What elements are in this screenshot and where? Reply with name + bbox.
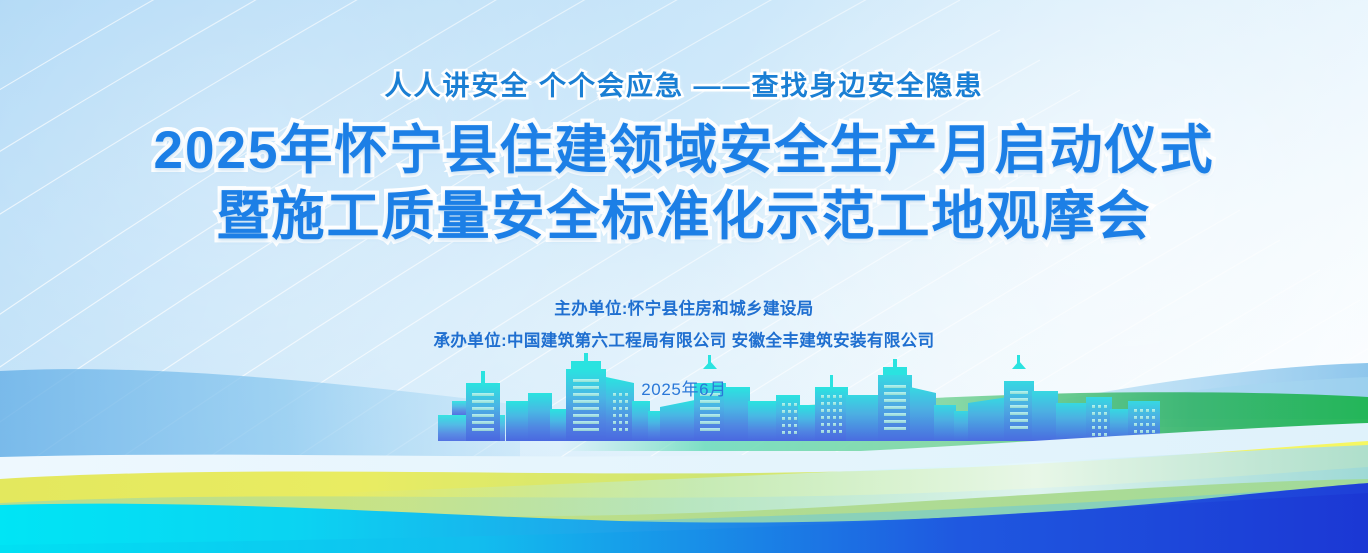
banner-title-line-2: 暨施工质量安全标准化示范工地观摩会 bbox=[0, 183, 1368, 251]
banner-slogan: 人人讲安全 个个会应急 ——查找身边安全隐患 bbox=[0, 64, 1368, 103]
host-organization: 主办单位:怀宁县住房和城乡建设局 bbox=[0, 293, 1368, 325]
event-banner: 人人讲安全 个个会应急 ——查找身边安全隐患 2025年怀宁县住建领域安全生产月… bbox=[0, 0, 1368, 553]
organizer-block: 主办单位:怀宁县住房和城乡建设局 承办单位:中国建筑第六工程局有限公司 安徽全丰… bbox=[0, 293, 1368, 357]
banner-content: 人人讲安全 个个会应急 ——查找身边安全隐患 2025年怀宁县住建领域安全生产月… bbox=[0, 0, 1368, 400]
event-date: 2025年6月 bbox=[0, 375, 1368, 400]
co-organizers: 承办单位:中国建筑第六工程局有限公司 安徽全丰建筑安装有限公司 bbox=[0, 325, 1368, 357]
banner-title-line-1: 2025年怀宁县住建领域安全生产月启动仪式 bbox=[0, 117, 1368, 185]
